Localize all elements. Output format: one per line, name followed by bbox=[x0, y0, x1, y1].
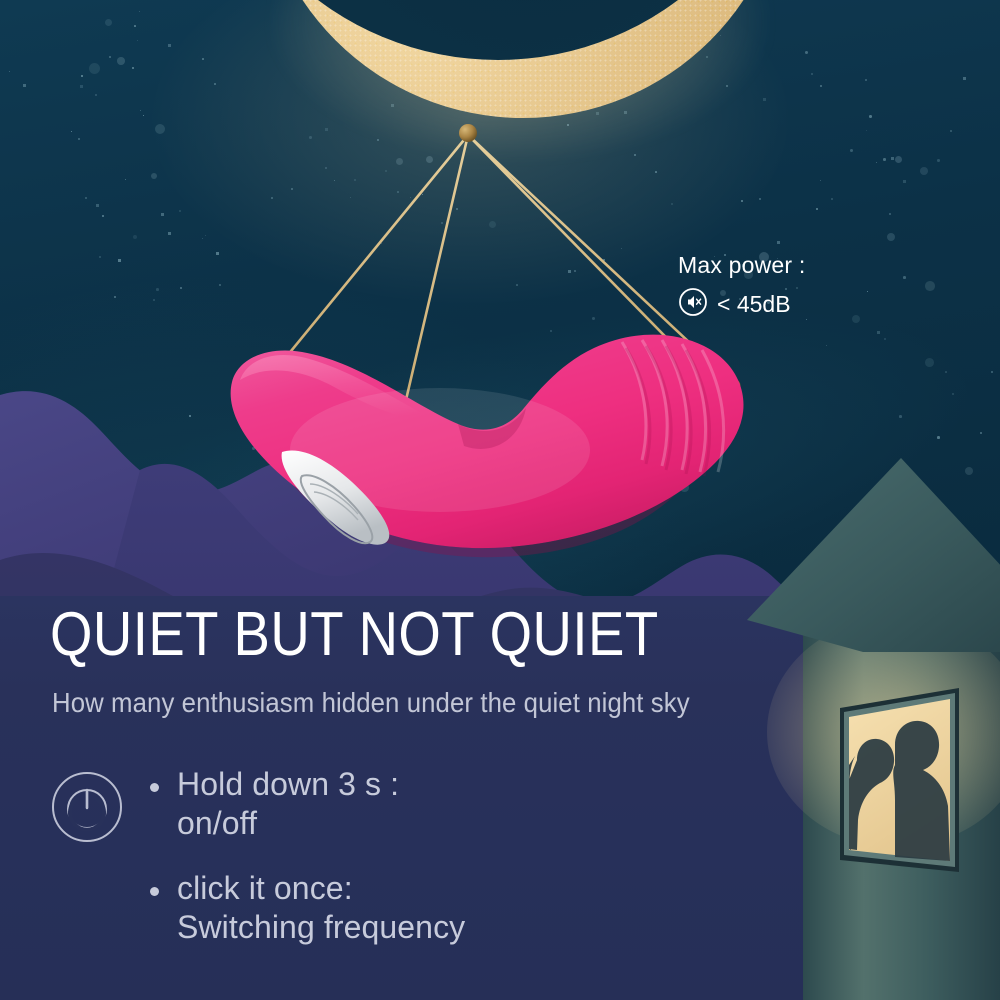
poster-canvas: Max power : < 45dB QUIET BUT NOT QUIET H… bbox=[0, 0, 1000, 1000]
list-item: Hold down 3 s : on/off bbox=[150, 765, 670, 843]
bullet-dot-icon bbox=[150, 887, 159, 896]
product-pink-wearable bbox=[190, 300, 770, 560]
list-item-label: Hold down 3 s : on/off bbox=[177, 765, 399, 843]
callout-value: < 45dB bbox=[717, 291, 791, 318]
list-item: click it once: Switching frequency bbox=[150, 869, 670, 947]
page-title: QUIET BUT NOT QUIET bbox=[50, 604, 659, 666]
list-item-label: click it once: Switching frequency bbox=[177, 869, 465, 947]
bullet-dot-icon bbox=[150, 783, 159, 792]
max-power-callout: Max power : < 45dB bbox=[678, 252, 978, 322]
callout-title: Max power : bbox=[678, 252, 978, 279]
page-subtitle: How many enthusiasm hidden under the qui… bbox=[52, 687, 690, 719]
power-icon bbox=[50, 770, 124, 844]
instruction-list: Hold down 3 s : on/off click it once: Sw… bbox=[150, 765, 670, 973]
moon-knob bbox=[459, 124, 477, 142]
speaker-mute-icon bbox=[678, 287, 708, 322]
